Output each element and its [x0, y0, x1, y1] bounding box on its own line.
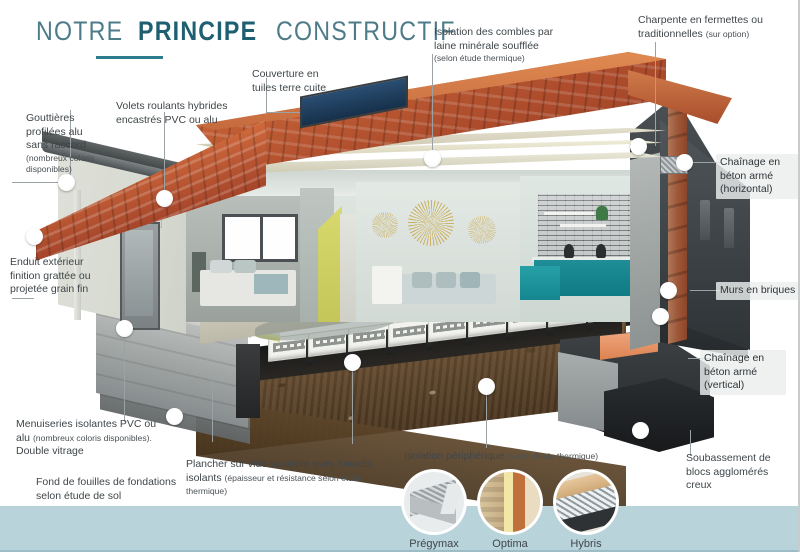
callout-dot-charpente[interactable]: [630, 138, 647, 155]
leader-line: [124, 330, 125, 422]
leader-line: [212, 376, 213, 442]
leader-line: [486, 386, 487, 448]
wall-sun-decor: [408, 200, 454, 246]
callout-dot-volets-roulants[interactable]: [156, 190, 173, 207]
leader-line: [352, 362, 353, 444]
product-hybris[interactable]: Hybris: [548, 472, 624, 550]
callout-enduit-exterieur: Enduit extérieur finition grattée ou pro…: [10, 256, 110, 297]
brick-wall-column: [668, 99, 687, 344]
door-glazing: [125, 230, 153, 316]
callout-isolation-peripherique: Isolation périphérique (selon étude ther…: [404, 450, 616, 464]
optima-label: Optima: [472, 538, 548, 550]
callout-chainage-horizontal-text: Chaînage en béton armé (horizontal): [720, 156, 796, 197]
callout-dot-enduit-exterieur[interactable]: [26, 228, 43, 245]
callout-chainage-horizontal: Chaînage en béton armé (horizontal): [716, 154, 800, 199]
kitchen-plant: [596, 206, 608, 220]
callout-dot-menuiseries[interactable]: [116, 320, 133, 337]
gable-window: [724, 208, 734, 248]
product-pregymax[interactable]: Prégymax: [396, 472, 472, 550]
foundation-dark-edge: [236, 344, 260, 418]
kitchen-shelf: [544, 212, 594, 215]
kitchen-area: [520, 176, 638, 322]
callout-isolation-peripherique-note: (selon étude thermique): [507, 451, 598, 461]
callout-plancher: Plancher sur vide sanitaire avec hourdis…: [186, 458, 392, 499]
callout-dot-gouttieres[interactable]: [58, 174, 75, 191]
callout-couverture: Couverture en tuiles terre cuite: [252, 68, 344, 95]
pillow: [210, 260, 232, 273]
callout-fond-fouilles: Fond de fouilles de fondations selon étu…: [36, 476, 206, 503]
callout-gouttieres-note: (nombreux coloris disponibles): [26, 153, 122, 175]
sofa-armchair: [372, 266, 402, 304]
leader-line: [432, 54, 433, 158]
kitchen-cabinet: [520, 266, 560, 300]
hybris-thumbnail-icon: [556, 472, 616, 532]
callout-gouttieres-text: Gouttières profilées alu sans raccord: [26, 112, 122, 153]
bedroom-room: [176, 196, 300, 322]
pregymax-label: Prégymax: [396, 538, 472, 550]
bed-throw: [254, 274, 288, 294]
callout-isolation-combles: Isolation des combles par laine minérale…: [434, 26, 574, 64]
living-room: [356, 182, 532, 322]
callout-enduit-exterieur-text: Enduit extérieur finition grattée ou pro…: [10, 256, 110, 297]
callout-soubassement-text: Soubassement de blocs agglomérés creux: [686, 452, 790, 493]
callout-dot-chainage-vertical[interactable]: [652, 308, 669, 325]
kitchen-stone-splashback: [538, 194, 636, 260]
callout-dot-plancher[interactable]: [344, 354, 361, 371]
pillow: [234, 260, 256, 273]
sofa-cushion: [436, 272, 456, 288]
sofa-cushion: [412, 272, 432, 288]
leader-line: [12, 298, 34, 299]
callout-volets-roulants-text: Volets roulants hybrides encastrés PVC o…: [116, 100, 238, 127]
callout-chainage-vertical-text: Chaînage en béton armé (vertical): [704, 352, 782, 393]
gable-window: [700, 200, 710, 240]
callout-chainage-vertical: Chaînage en béton armé (vertical): [700, 350, 786, 395]
callout-fond-fouilles-text: Fond de fouilles de fondations selon étu…: [36, 476, 206, 503]
callout-dot-soubassement[interactable]: [632, 422, 649, 439]
callout-dot-isolation-combles[interactable]: [424, 150, 441, 167]
glazed-door: [120, 222, 160, 330]
callout-soubassement: Soubassement de blocs agglomérés creux: [686, 452, 790, 493]
kitchen-shelf: [560, 224, 606, 227]
wall-plaster-panel: [340, 214, 356, 322]
callout-dot-chainage-horizontal[interactable]: [676, 154, 693, 171]
house-cutaway-illustration: [0, 0, 800, 552]
pregymax-thumbnail-icon: [404, 472, 464, 532]
callout-isolation-peripherique-text: Isolation périphérique: [404, 450, 507, 462]
product-optima[interactable]: Optima: [472, 472, 548, 550]
callout-murs-briques-text: Murs en briques: [720, 284, 796, 298]
callout-dot-murs-briques[interactable]: [660, 282, 677, 299]
kitchen-ornament: [564, 244, 574, 258]
wall-sun-decor: [372, 212, 398, 238]
hybris-label: Hybris: [548, 538, 624, 550]
optima-thumbnail-icon: [480, 472, 540, 532]
leader-line: [266, 112, 300, 113]
bedroom-window: [222, 214, 298, 262]
callout-charpente: Charpente en fermettes ou traditionnelle…: [638, 14, 796, 41]
callout-isolation-combles-note: (selon étude thermique): [434, 53, 574, 64]
callout-volets-roulants: Volets roulants hybrides encastrés PVC o…: [116, 100, 238, 127]
kitchen-ornament: [596, 244, 606, 258]
sofa-cushion: [460, 272, 480, 288]
callout-charpente-note: (sur option): [706, 29, 749, 39]
callout-menuiseries-note: (nombreux coloris disponibles).: [33, 433, 152, 443]
callout-couverture-text: Couverture en tuiles terre cuite: [252, 68, 344, 95]
rainwater-downpipe: [74, 190, 81, 320]
callout-isolation-combles-text: Isolation des combles par laine minérale…: [434, 26, 574, 53]
callout-menuiseries: Menuiseries isolantes PVC ou alu (nombre…: [16, 418, 182, 459]
callout-murs-briques: Murs en briques: [716, 282, 800, 300]
callout-gouttieres: Gouttières profilées alu sans raccord (n…: [26, 112, 122, 175]
diagram-page: NOTRE PRINCIPE CONSTRUCTIF: [0, 0, 800, 552]
wall-sun-decor: [468, 216, 496, 244]
leader-line: [655, 42, 656, 146]
callout-menuiseries-text2: Double vitrage: [16, 445, 182, 459]
callout-dot-isolation-peripherique[interactable]: [478, 378, 495, 395]
